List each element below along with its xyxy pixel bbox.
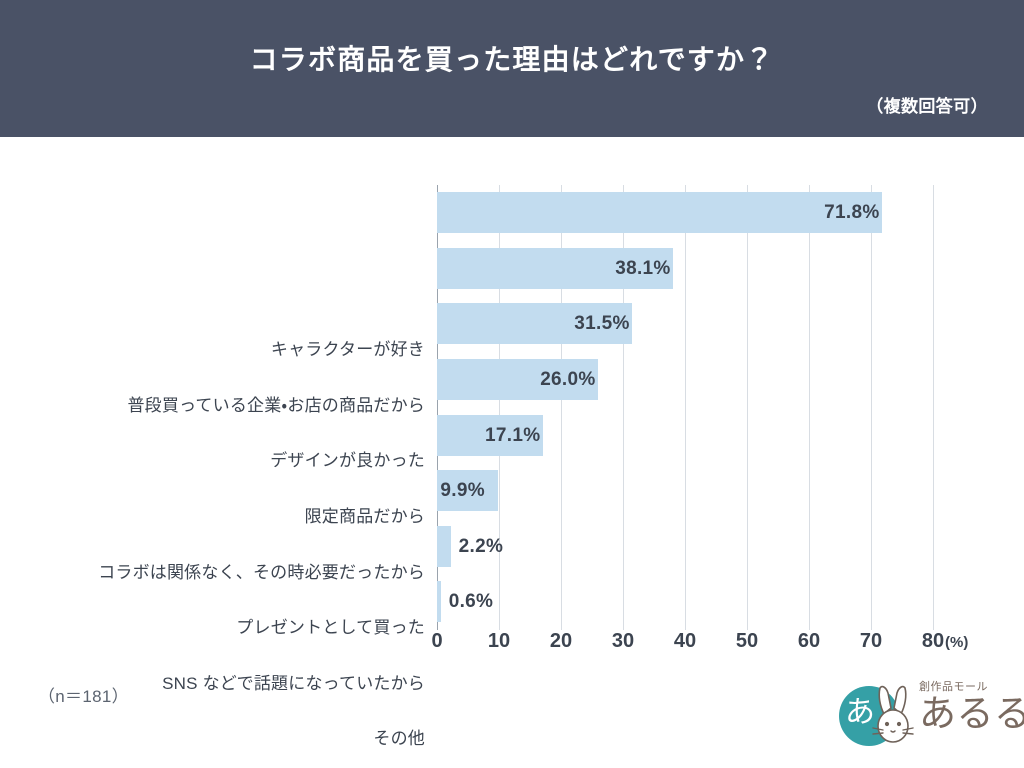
category-label: デザインが良かった xyxy=(5,433,425,489)
bar-value-label: 2.2% xyxy=(459,526,504,567)
x-tick-label: 60 xyxy=(798,630,820,653)
x-tick-label: 0 xyxy=(431,630,442,653)
bar-value-label: 0.6% xyxy=(449,581,494,622)
x-axis-unit-label: (%) xyxy=(945,634,968,651)
category-label: キャラクターが好き xyxy=(5,322,425,378)
bar-value-label: 31.5% xyxy=(574,303,629,344)
bar[interactable] xyxy=(437,192,882,233)
bar-value-label: 17.1% xyxy=(485,415,540,456)
x-tick-label: 70 xyxy=(860,630,882,653)
x-axis: 01020304050607080 (%) xyxy=(437,630,997,670)
bar[interactable] xyxy=(437,581,441,622)
page-header: コラボ商品を買った理由はどれですか？ （複数回答可） xyxy=(0,0,1024,137)
bar-row[interactable]: 2.2% xyxy=(437,519,933,575)
rabbit-icon xyxy=(871,684,917,750)
bar-value-label: 26.0% xyxy=(540,359,595,400)
logo-mark: あ xyxy=(839,682,917,754)
logo-name: あるる xyxy=(919,692,1024,736)
category-label: その他 xyxy=(5,711,425,767)
category-label: 限定商品だから xyxy=(5,489,425,545)
x-tick-label: 50 xyxy=(736,630,758,653)
x-tick-label: 10 xyxy=(488,630,510,653)
bar-row[interactable]: 31.5% xyxy=(437,296,933,352)
bar-value-label: 9.9% xyxy=(440,470,485,511)
bar-row[interactable]: 0.6% xyxy=(437,574,933,630)
bar-row[interactable]: 26.0% xyxy=(437,352,933,408)
page-title: コラボ商品を買った理由はどれですか？ xyxy=(0,43,1024,77)
bar-row[interactable]: 9.9% xyxy=(437,463,933,519)
x-tick-label: 20 xyxy=(550,630,572,653)
sample-size-note: （n＝181） xyxy=(38,682,129,707)
multiple-answer-note: （複数回答可） xyxy=(866,96,988,118)
bar-value-label: 38.1% xyxy=(615,248,670,289)
bar-row[interactable]: 17.1% xyxy=(437,408,933,464)
plot-area: 71.8%38.1%31.5%26.0%17.1%9.9%2.2%0.6% xyxy=(437,185,933,630)
bar-row[interactable]: 71.8% xyxy=(437,185,933,241)
brand-logo: あ 創作品モール あるる xyxy=(837,674,1012,760)
x-tick-label: 30 xyxy=(612,630,634,653)
bar-row[interactable]: 38.1% xyxy=(437,241,933,297)
category-label: 普段買っている企業・お店の商品だから xyxy=(5,378,425,434)
gridline-80 xyxy=(933,185,934,630)
bar-value-label: 71.8% xyxy=(824,192,879,233)
bar-chart: キャラクターが好き普段買っている企業・お店の商品だからデザインが良かった限定商品… xyxy=(0,137,1024,768)
logo-wordmark: 創作品モール あるる xyxy=(919,676,1011,756)
bar-rows: 71.8%38.1%31.5%26.0%17.1%9.9%2.2%0.6% xyxy=(437,185,933,630)
x-tick-label: 40 xyxy=(674,630,696,653)
category-label: プレゼントとして買った xyxy=(5,600,425,656)
category-label: コラボは関係なく、その時必要だったから xyxy=(5,545,425,601)
x-tick-label: 80 xyxy=(922,630,944,653)
bar[interactable] xyxy=(437,526,451,567)
